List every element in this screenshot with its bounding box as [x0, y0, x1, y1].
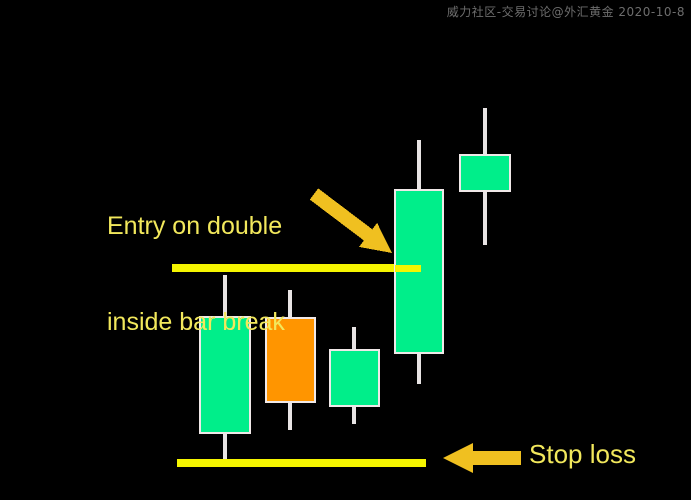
- entry-level-line-overlap: [395, 265, 421, 272]
- candle-5-bullish-body: [460, 155, 510, 191]
- stop-loss-level-line: [177, 459, 426, 467]
- entry-annotation-text: Entry on double inside bar break: [107, 146, 285, 402]
- candle-3-bullish-inside-body: [330, 350, 379, 406]
- watermark-text: 威力社区-交易讨论@外汇黄金 2020-10-8: [447, 3, 685, 20]
- entry-annotation-line-1: Entry on double: [107, 210, 285, 242]
- chart-background: [0, 0, 691, 500]
- stop-loss-annotation-text: Stop loss: [529, 438, 636, 471]
- screenshot-root: 威力社区-交易讨论@外汇黄金 2020-10-8 Entry on double…: [0, 0, 691, 500]
- price-levels-front-layer: [395, 265, 421, 272]
- candlestick-chart: [0, 0, 691, 500]
- entry-annotation-line-2: inside bar break: [107, 306, 285, 338]
